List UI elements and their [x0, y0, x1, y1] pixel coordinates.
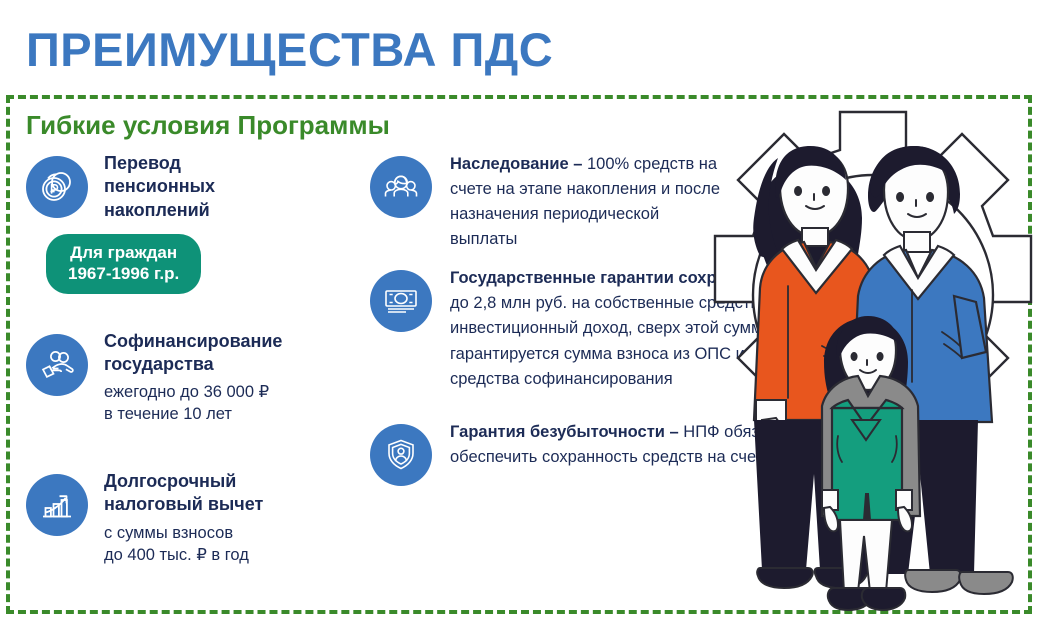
- feature-text-block: Государственные гарантии сохранности - д…: [450, 266, 800, 391]
- feature-lead: Наследование –: [450, 155, 587, 173]
- feature-title: Софинансирование государства: [104, 330, 346, 377]
- feature-lead: Государственные гарантии сохранности -: [450, 269, 793, 287]
- feature-lead: Гарантия безубыточности –: [450, 423, 683, 441]
- growth-chart-icon: [26, 474, 88, 536]
- hand-with-money-icon: [26, 334, 88, 396]
- feature-text-block: Софинансирование государства ежегодно до…: [104, 330, 346, 426]
- feature-paragraph: Наследование – 100% средств на счете на …: [450, 152, 730, 252]
- citizens-badge: Для граждан 1967-1996 г.р.: [46, 234, 201, 293]
- feature-item-state-guarantees: Государственные гарантии сохранности - д…: [370, 266, 730, 391]
- banknote-icon: [370, 270, 432, 332]
- feature-item-inheritance: Наследование – 100% средств на счете на …: [370, 152, 730, 252]
- feature-paragraph: Гарантия безубыточности – НПФ обязан обе…: [450, 420, 780, 470]
- section-heading: Гибкие условия Программы: [26, 110, 390, 141]
- feature-title: Долгосрочный налоговый вычет: [104, 470, 346, 517]
- feature-item-tax-deduction: Долгосрочный налоговый вычет с суммы взн…: [26, 470, 346, 566]
- right-feature-column: Наследование – 100% средств на счете на …: [370, 152, 730, 486]
- feature-item-pension-transfer: Перевод пенсионных накоплений: [26, 152, 346, 222]
- page-title: ПРЕИМУЩЕСТВА ПДС: [26, 26, 553, 73]
- feature-text-block: Наследование – 100% средств на счете на …: [450, 152, 730, 252]
- family-group-icon: [370, 156, 432, 218]
- shield-person-icon: [370, 424, 432, 486]
- feature-text-block: Перевод пенсионных накоплений: [104, 152, 346, 222]
- feature-title: Перевод пенсионных накоплений: [104, 152, 346, 222]
- feature-item-no-loss-guarantee: Гарантия безубыточности – НПФ обязан обе…: [370, 420, 730, 486]
- feature-body: ежегодно до 36 000 ₽ в течение 10 лет: [104, 382, 346, 426]
- feature-body: с суммы взносов до 400 тыс. ₽ в год: [104, 523, 346, 567]
- ruble-coins-icon: [26, 156, 88, 218]
- feature-paragraph: Государственные гарантии сохранности - д…: [450, 266, 800, 391]
- left-feature-column: Перевод пенсионных накоплений Для гражда…: [26, 152, 346, 566]
- feature-item-state-cofinancing: Софинансирование государства ежегодно до…: [26, 330, 346, 426]
- feature-text-block: Гарантия безубыточности – НПФ обязан обе…: [450, 420, 780, 470]
- feature-text-block: Долгосрочный налоговый вычет с суммы взн…: [104, 470, 346, 566]
- feature-body: до 2,8 млн руб. на собственные средства …: [450, 294, 782, 387]
